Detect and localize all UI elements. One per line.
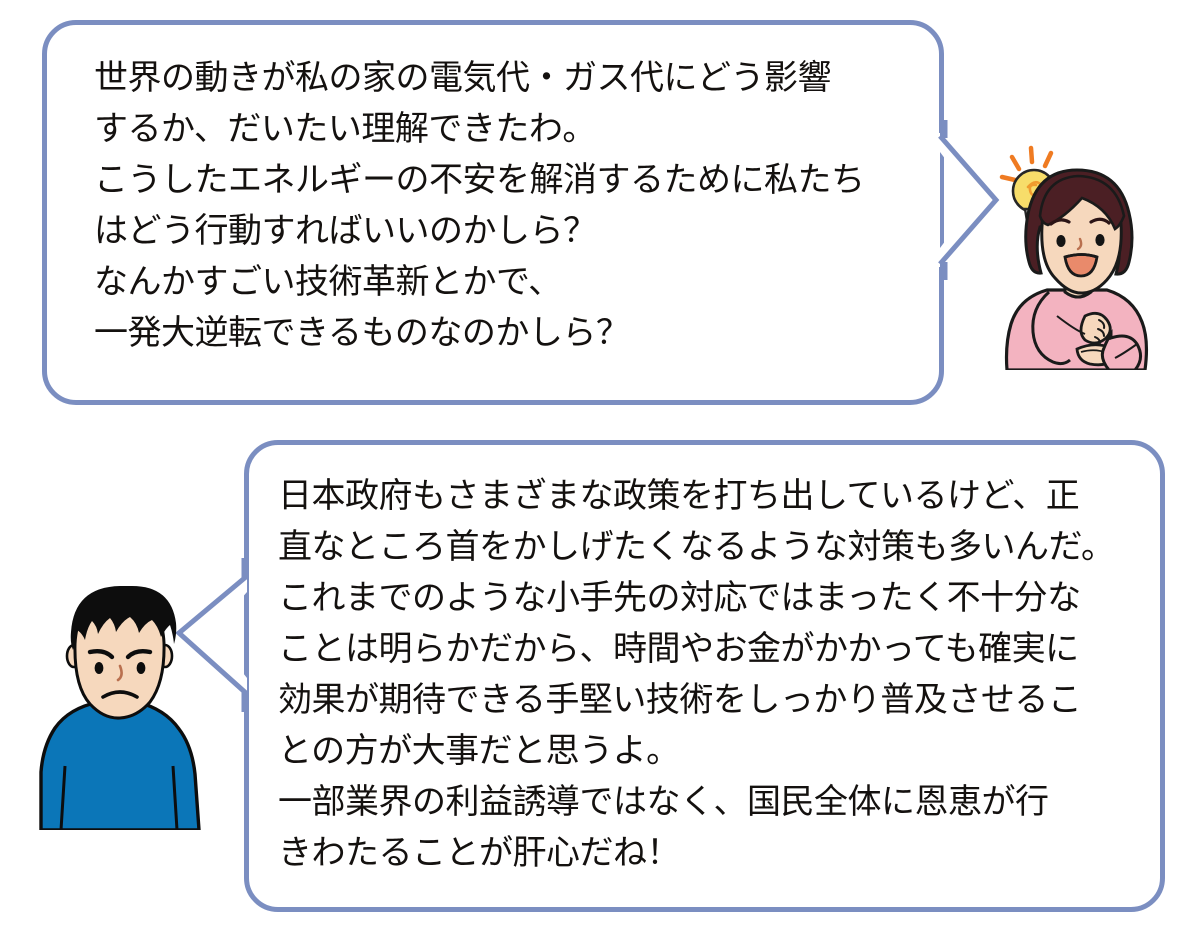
woman-character bbox=[985, 140, 1190, 370]
speech-bubble-woman-text: 世界の動きが私の家の電気代・ガス代にどう影響 するか、だいたい理解できたわ。 こ… bbox=[94, 53, 865, 359]
man-character bbox=[35, 580, 205, 830]
dialogue-canvas: 世界の動きが私の家の電気代・ガス代にどう影響 するか、だいたい理解できたわ。 こ… bbox=[0, 0, 1200, 945]
speech-bubble-man-text: 日本政府もさまざまな政策を打ち出しているけど、正 直なところ首をかしげたくなるよ… bbox=[278, 471, 1114, 879]
